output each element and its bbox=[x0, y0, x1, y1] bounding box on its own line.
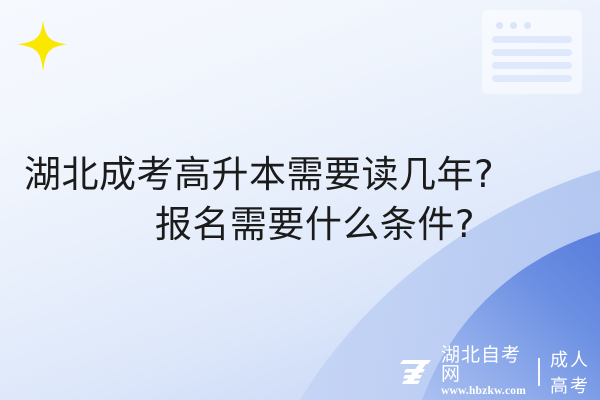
brand-text: 湖北自考网 www.hbzkw.com bbox=[441, 346, 526, 398]
window-line bbox=[492, 49, 572, 56]
page-title: 湖北成考高升本需要读几年? 报名需要什么条件? bbox=[24, 150, 576, 250]
page-title-line-1: 湖北成考高升本需要读几年? bbox=[24, 150, 576, 200]
hbzkw-z-mark-icon bbox=[400, 357, 434, 387]
four-point-star-icon bbox=[14, 18, 70, 74]
window-line bbox=[492, 36, 572, 43]
brand-name: 湖北自考网 bbox=[441, 346, 526, 384]
brand-logo[interactable]: 湖北自考网 www.hbzkw.com 成人高考 bbox=[400, 352, 600, 392]
promo-banner: 湖北成考高升本需要读几年? 报名需要什么条件? 湖北自考网 www.hbzkw.… bbox=[0, 0, 600, 400]
page-title-line-2: 报名需要什么条件? bbox=[24, 200, 576, 250]
window-lines bbox=[492, 36, 572, 82]
window-dot bbox=[496, 22, 503, 29]
brand-url: www.hbzkw.com bbox=[441, 386, 526, 398]
window-placeholder-icon bbox=[482, 10, 582, 94]
window-dot bbox=[524, 22, 531, 29]
window-dot bbox=[510, 22, 517, 29]
brand-tagline: 成人高考 bbox=[550, 346, 600, 398]
window-dots bbox=[496, 22, 572, 29]
window-line bbox=[492, 75, 572, 82]
brand-divider bbox=[538, 358, 540, 386]
window-line bbox=[492, 62, 572, 69]
